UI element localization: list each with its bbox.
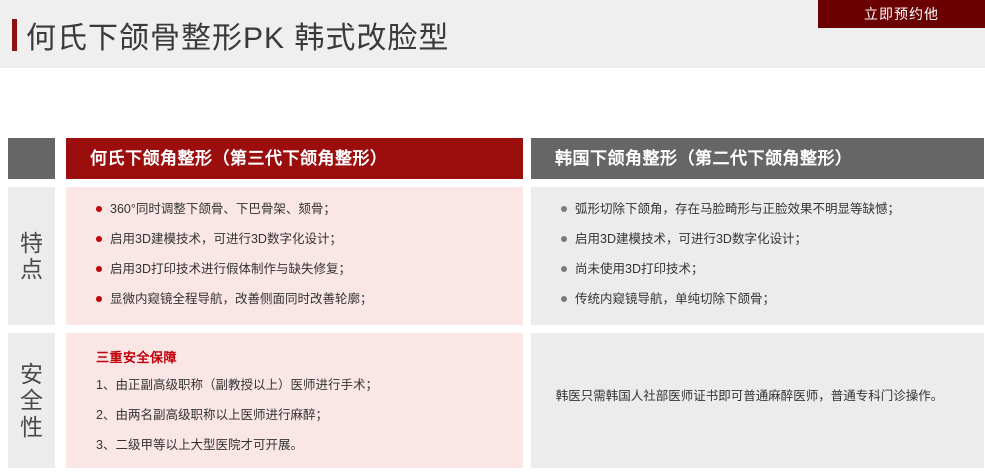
bullet-dot-icon [561,296,567,302]
page-title: 何氏下颌骨整形PK 韩式改脸型 [26,13,449,57]
bullet-dot-icon [561,266,567,272]
list-item-text: 传统内窥镜导航，单纯切除下颌骨； [575,291,775,308]
page-title-group: 何氏下颌骨整形PK 韩式改脸型 [12,17,449,53]
features-korean-cell: 弧形切除下颌角，存在马脸畸形与正脸效果不明显等缺憾； 启用3D建模技术，可进行3… [531,187,984,325]
column-header-he-shi-cell: 何氏下颌角整形（第三代下颌角整形） [66,138,523,179]
safety-he-shi-panel: 三重安全保障 1、由正副高级职称（副教授以上）医师进行手术； 2、由两名副高级职… [66,333,523,468]
list-item: 启用3D建模技术，可进行3D数字化设计； [96,231,509,248]
title-accent-bar [12,19,17,51]
table-row-safety: 安全性 三重安全保障 1、由正副高级职称（副教授以上）医师进行手术； 2、由两名… [0,333,985,468]
row-label-safety: 安全性 [8,333,55,468]
bullet-dot-icon [561,236,567,242]
header-band: 何氏下颌骨整形PK 韩式改脸型 立即预约他 [0,0,985,68]
column-header-korean-cell: 韩国下颌角整形（第二代下颌角整形） [531,138,984,179]
features-korean-list: 弧形切除下颌角，存在马脸畸形与正脸效果不明显等缺憾； 启用3D建模技术，可进行3… [561,201,970,308]
list-item: 尚未使用3D打印技术； [561,261,970,278]
bullet-dot-icon [96,206,102,212]
features-he-shi-cell: 360°同时调整下颌骨、下巴骨架、颏骨； 启用3D建模技术，可进行3D数字化设计… [66,187,523,325]
bullet-dot-icon [96,236,102,242]
table-header-row: 何氏下颌角整形（第三代下颌角整形） 韩国下颌角整形（第二代下颌角整形） [0,138,985,179]
features-he-shi-panel: 360°同时调整下颌骨、下巴骨架、颏骨； 启用3D建模技术，可进行3D数字化设计… [66,187,523,325]
features-he-shi-list: 360°同时调整下颌骨、下巴骨架、颏骨； 启用3D建模技术，可进行3D数字化设计… [96,201,509,308]
comparison-table: 何氏下颌角整形（第三代下颌角整形） 韩国下颌角整形（第二代下颌角整形） 特点 3… [0,138,985,476]
list-item: 2、由两名副高级职称以上医师进行麻醉； [96,407,509,424]
list-item: 1、由正副高级职称（副教授以上）医师进行手术； [96,377,509,394]
list-item: 启用3D打印技术进行假体制作与缺失修复； [96,261,509,278]
bullet-dot-icon [96,266,102,272]
list-item: 3、二级甲等以上大型医院才可开展。 [96,437,509,454]
safety-korean-panel: 韩医只需韩国人社部医师证书即可普通麻醉医师，普通专科门诊操作。 [531,333,984,468]
appointment-cta-button[interactable]: 立即预约他 [818,0,985,28]
bullet-dot-icon [96,296,102,302]
safety-he-shi-list: 1、由正副高级职称（副教授以上）医师进行手术； 2、由两名副高级职称以上医师进行… [96,377,509,454]
list-item-text: 弧形切除下颌角，存在马脸畸形与正脸效果不明显等缺憾； [575,201,900,218]
list-item-text: 360°同时调整下颌骨、下巴骨架、颏骨； [110,201,336,218]
list-item: 传统内窥镜导航，单纯切除下颌骨； [561,291,970,308]
list-item-text: 显微内窥镜全程导航，改善侧面同时改善轮廓； [110,291,373,308]
row-label-features: 特点 [8,187,55,325]
list-item-text: 启用3D建模技术，可进行3D数字化设计； [575,231,807,248]
safety-he-shi-cell: 三重安全保障 1、由正副高级职称（副教授以上）医师进行手术； 2、由两名副高级职… [66,333,523,468]
table-row-features: 特点 360°同时调整下颌骨、下巴骨架、颏骨； 启用3D建模技术，可进行3D数字… [0,187,985,325]
list-item: 显微内窥镜全程导航，改善侧面同时改善轮廓； [96,291,509,308]
list-item: 360°同时调整下颌骨、下巴骨架、颏骨； [96,201,509,218]
corner-cell [8,138,55,179]
list-item: 弧形切除下颌角，存在马脸畸形与正脸效果不明显等缺憾； [561,201,970,218]
row-label-features-text: 特点 [19,230,45,283]
safety-heading: 三重安全保障 [96,347,509,366]
row-label-safety-text: 安全性 [19,361,45,440]
bullet-dot-icon [561,206,567,212]
features-korean-panel: 弧形切除下颌角，存在马脸畸形与正脸效果不明显等缺憾； 启用3D建模技术，可进行3… [531,187,984,325]
safety-korean-cell: 韩医只需韩国人社部医师证书即可普通麻醉医师，普通专科门诊操作。 [531,333,984,468]
column-header-he-shi: 何氏下颌角整形（第三代下颌角整形） [66,138,523,179]
list-item: 启用3D建模技术，可进行3D数字化设计； [561,231,970,248]
list-item-text: 启用3D打印技术进行假体制作与缺失修复； [110,261,351,278]
list-item-text: 启用3D建模技术，可进行3D数字化设计； [110,231,342,248]
column-header-korean: 韩国下颌角整形（第二代下颌角整形） [531,138,984,179]
safety-korean-text: 韩医只需韩国人社部医师证书即可普通麻醉医师，普通专科门诊操作。 [545,347,970,406]
list-item-text: 尚未使用3D打印技术； [575,261,703,278]
